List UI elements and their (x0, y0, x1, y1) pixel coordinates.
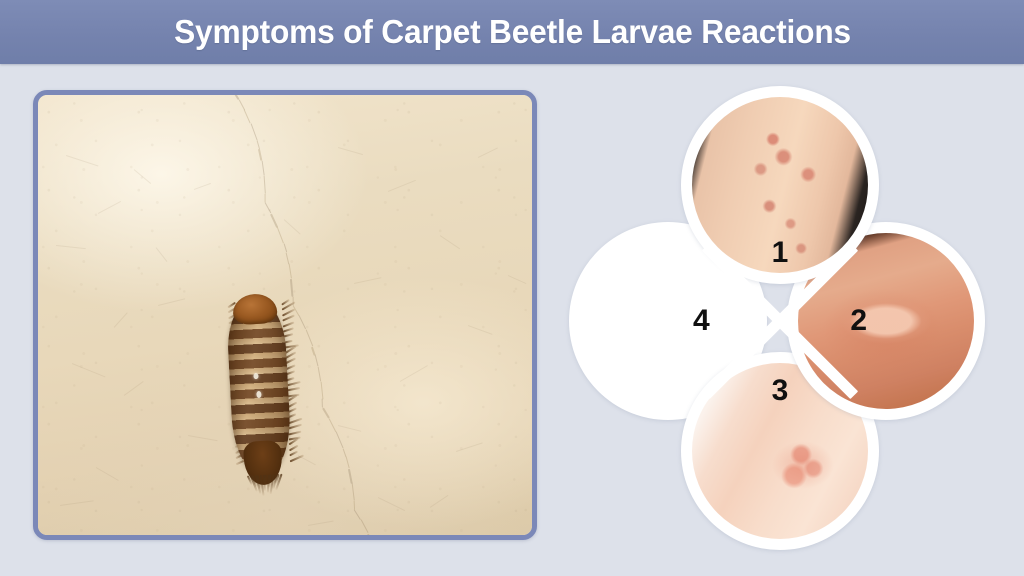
collage-number-2: 2 (850, 306, 867, 336)
collage-number-3: 3 (772, 376, 789, 406)
collage-number-1: 1 (772, 238, 789, 268)
photo-inner (38, 95, 532, 535)
carpet-beetle-larva-photo (33, 90, 537, 540)
carpet-beetle-larva (211, 289, 307, 483)
page-title: Symptoms of Carpet Beetle Larvae Reactio… (174, 13, 851, 51)
collage-center-divider: 1 2 3 4 (681, 222, 879, 420)
collage-number-4: 4 (693, 306, 710, 336)
header-bar: Symptoms of Carpet Beetle Larvae Reactio… (0, 0, 1024, 64)
larva-head (232, 293, 278, 325)
symptom-photo-collage: 1 2 3 4 (560, 86, 1000, 550)
